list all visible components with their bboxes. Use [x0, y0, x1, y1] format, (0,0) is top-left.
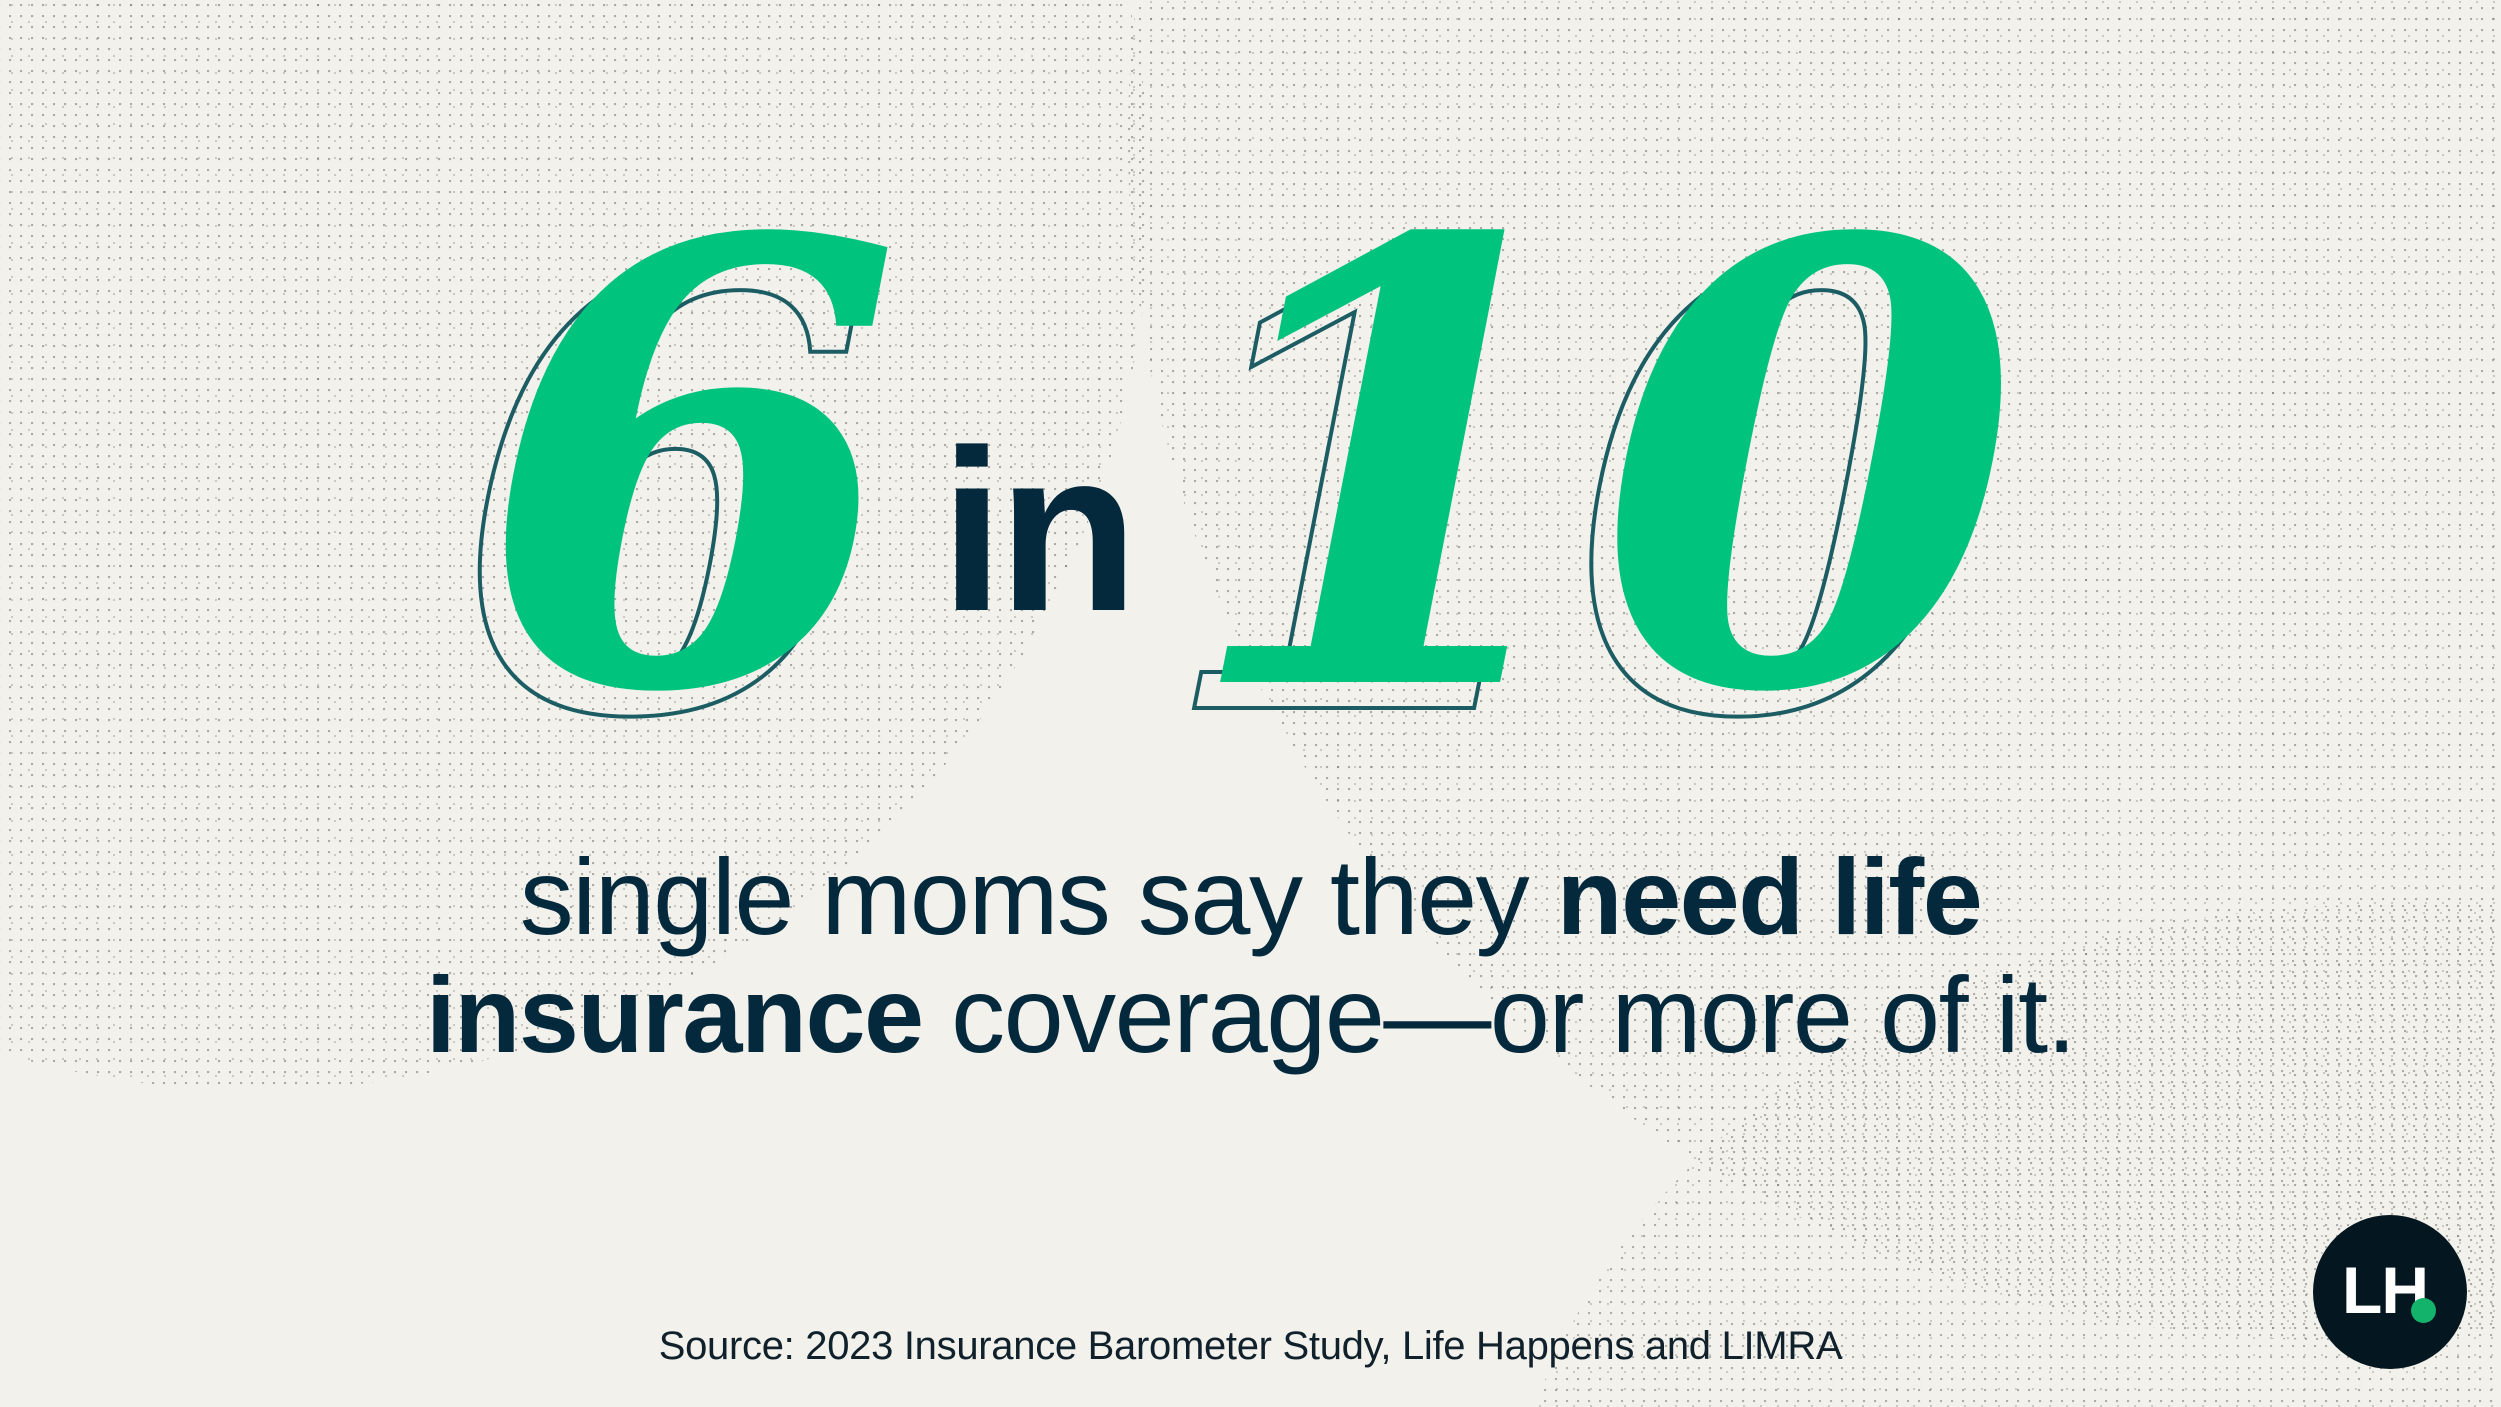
infographic-canvas: 6 in 10 single moms say they need life i… [0, 0, 2501, 1407]
subheadline: single moms say they need life insurance… [246, 838, 2256, 1074]
subheadline-text-bold-1: need life [1557, 836, 1982, 957]
source-citation: Source: 2023 Insurance Barometer Study, … [659, 1322, 1843, 1370]
statistic-connector: in [940, 416, 1132, 646]
subheadline-line-2: insurance coverage—or more of it. [246, 956, 2256, 1074]
subheadline-text-plain-2: coverage—or more of it. [923, 954, 2075, 1075]
subheadline-line-1: single moms say they need life [246, 838, 2256, 956]
logo-dot-icon [2411, 1298, 2436, 1323]
statistic-denominator: 10 [1180, 169, 2013, 767]
headline-statistic: 6 in 10 [0, 118, 2501, 818]
life-happens-logo[interactable]: LH [2313, 1215, 2467, 1369]
subheadline-text-bold-2: insurance [426, 954, 923, 1075]
statistic-numerator: 6 [478, 169, 894, 767]
subheadline-text-plain-1: single moms say they [520, 836, 1557, 957]
